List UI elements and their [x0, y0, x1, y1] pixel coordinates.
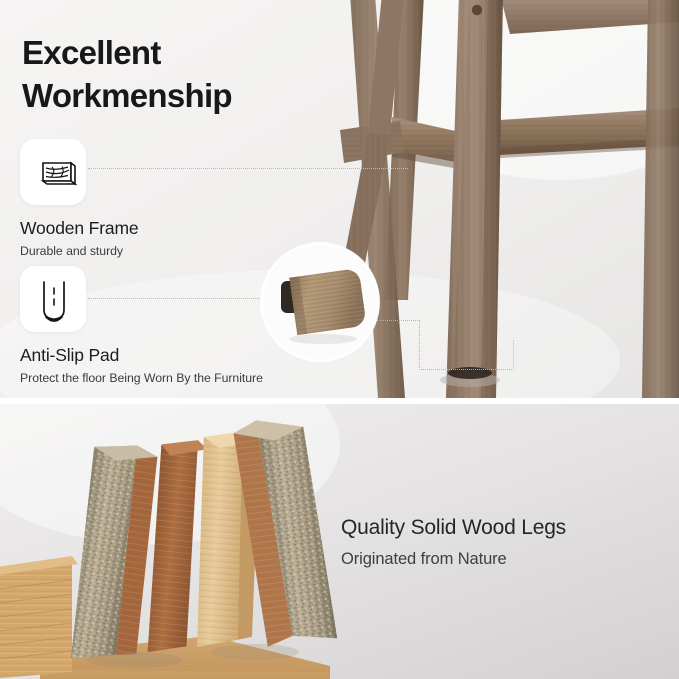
top-panel: Excellent Workmenship	[0, 0, 679, 398]
bottom-section-subtitle: Originated from Nature	[341, 550, 507, 569]
connector-bracket-magnifier	[372, 320, 514, 370]
feature-title: Wooden Frame	[20, 218, 139, 239]
feature-title: Anti-Slip Pad	[20, 345, 263, 366]
bracket-bottom-segment	[419, 369, 514, 370]
anti-slip-pad-magnifier	[261, 243, 379, 361]
product-infographic: Excellent Workmenship	[0, 0, 679, 679]
bracket-top-segment	[372, 320, 420, 321]
chair-leg-anti-slip-pad-icon	[20, 266, 86, 332]
bracket-vertical-segment	[419, 320, 420, 370]
solid-wood-blocks-photo	[0, 404, 679, 679]
headline-line-2: Workmenship	[22, 74, 362, 117]
wood-plank-stack-icon	[20, 139, 86, 205]
feature-anti-slip-pad: Anti-Slip Pad Protect the floor Being Wo…	[20, 266, 263, 385]
feature-subtitle: Durable and sturdy	[20, 244, 139, 258]
bottom-section-title: Quality Solid Wood Legs	[341, 516, 566, 540]
bracket-end-segment	[513, 340, 514, 370]
feature-subtitle: Protect the floor Being Worn By the Furn…	[20, 371, 263, 385]
feature-wooden-frame: Wooden Frame Durable and sturdy	[20, 139, 139, 258]
bottom-panel	[0, 404, 679, 679]
page-title: Excellent Workmenship	[22, 31, 362, 117]
headline-line-1: Excellent	[22, 31, 362, 74]
